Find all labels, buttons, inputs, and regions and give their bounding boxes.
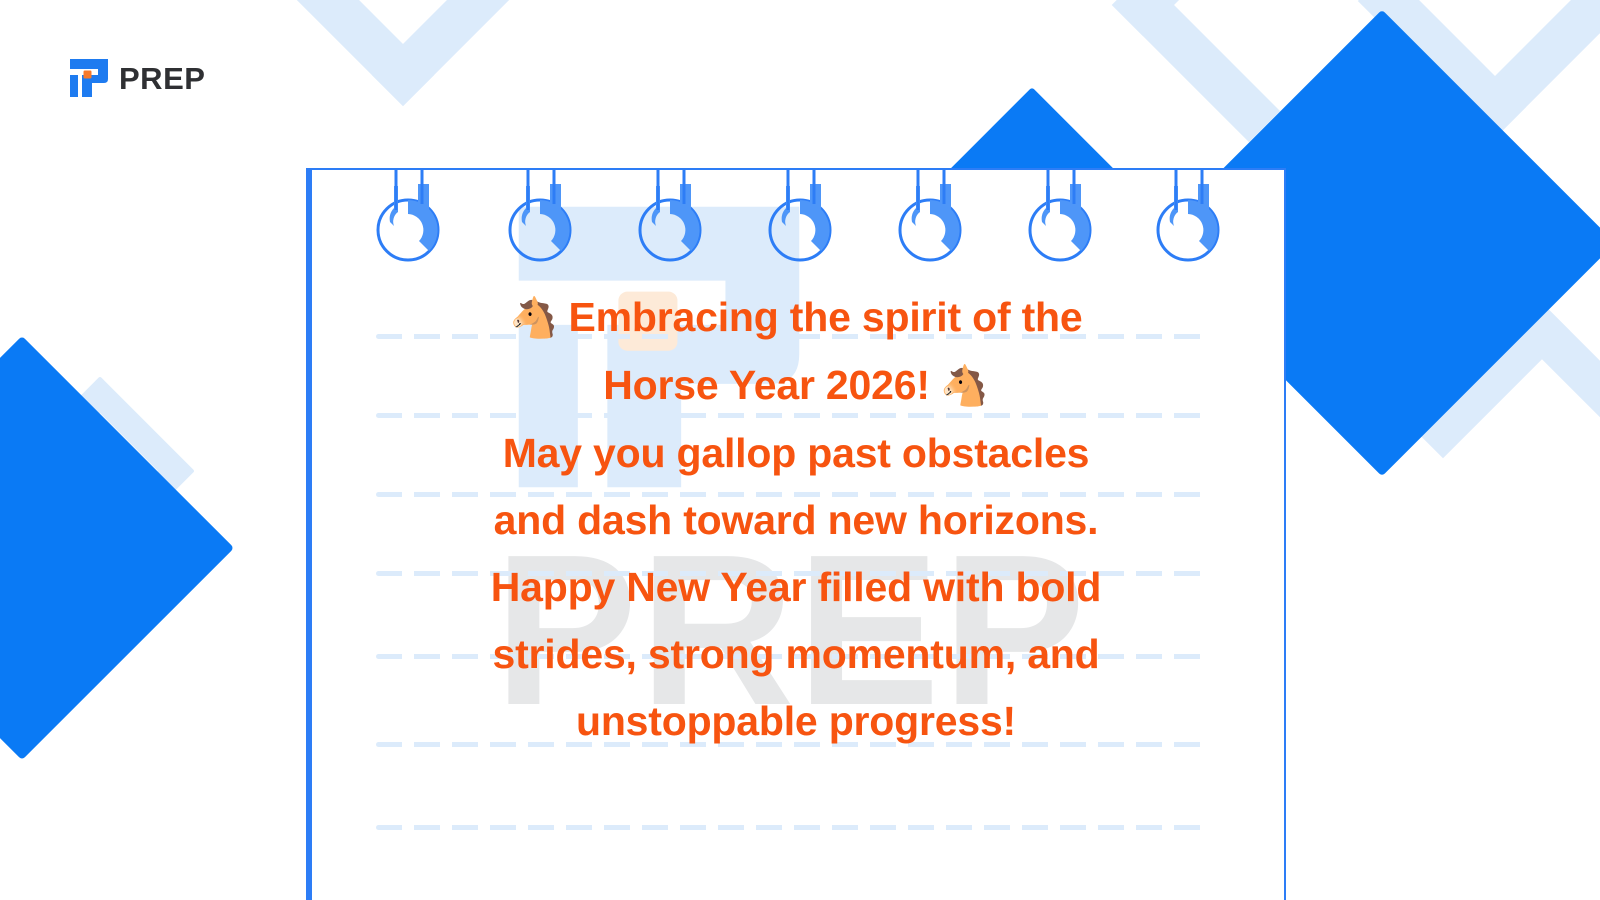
message-line-7: unstoppable progress! (354, 688, 1238, 755)
spiral-ring (634, 168, 706, 272)
message-line-text: Horse Year 2026! (603, 362, 930, 408)
greeting-message: 🐴 Embracing the spirit of theHorse Year … (306, 284, 1286, 755)
message-line-text: unstoppable progress! (576, 698, 1016, 744)
message-line-text: and dash toward new horizons. (494, 497, 1099, 543)
horse-emoji: 🐴 (510, 297, 569, 340)
ruled-line (376, 825, 1206, 830)
notebook-spiral-binding (312, 168, 1284, 278)
message-line-5: Happy New Year filled with bold (354, 554, 1238, 621)
chevron-top-center-decoration (266, 0, 540, 106)
message-line-text: Happy New Year filled with bold (491, 564, 1101, 610)
spiral-ring (1152, 168, 1224, 272)
brand-logo[interactable]: PREP (68, 57, 205, 99)
message-line-6: strides, strong momentum, and (354, 621, 1238, 688)
spiral-ring (372, 168, 444, 272)
message-line-4: and dash toward new horizons. (354, 487, 1238, 554)
horse-emoji: 🐴 (930, 365, 989, 408)
brand-name: PREP (119, 63, 205, 94)
spiral-ring (1024, 168, 1096, 272)
message-line-3: May you gallop past obstacles (354, 420, 1238, 487)
greeting-card-canvas: PREP PREP 🐴 Embracing the spi (0, 0, 1600, 900)
spiral-ring (894, 168, 966, 272)
message-line-text: strides, strong momentum, and (493, 631, 1100, 677)
message-line-text: May you gallop past obstacles (503, 430, 1090, 476)
spiral-ring (504, 168, 576, 272)
message-line-1: 🐴 Embracing the spirit of the (354, 284, 1238, 352)
message-line-text: Embracing the spirit of the (569, 294, 1083, 340)
notebook-card: PREP 🐴 Embracing the spirit of theHorse … (306, 168, 1286, 900)
prep-logo-icon (68, 57, 110, 99)
message-line-2: Horse Year 2026! 🐴 (354, 352, 1238, 420)
spiral-ring (764, 168, 836, 272)
